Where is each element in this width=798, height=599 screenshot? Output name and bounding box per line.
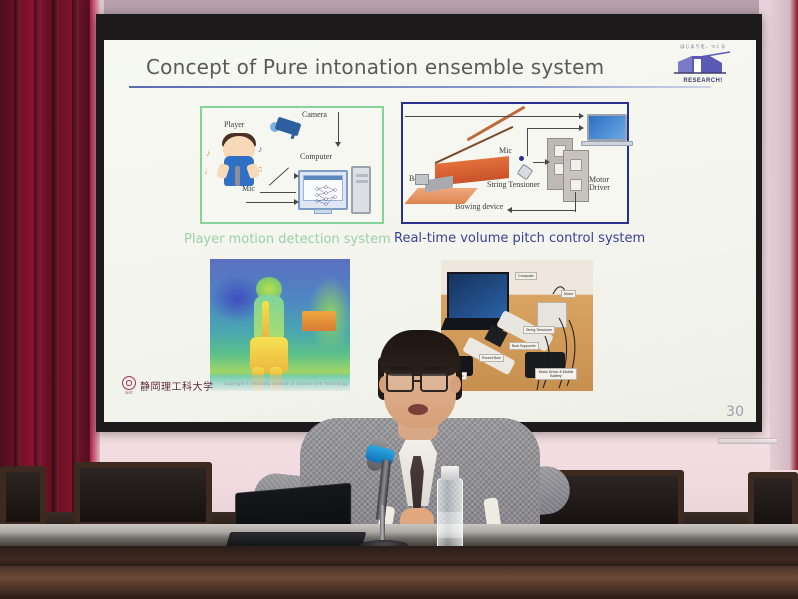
mic-icon (519, 156, 524, 161)
microphone-pole (380, 505, 385, 545)
diagram-label-motor-driver: Motor Driver (589, 176, 629, 193)
conference-table-edge (0, 546, 798, 568)
string-tensioner-icon (517, 164, 534, 181)
logo-tagline: はじまりを、つくる (664, 44, 742, 50)
maroon-curtain (0, 0, 100, 520)
realtime-pitch-control-diagram: Bow Mic String Tensioner Bowing device M… (401, 102, 629, 224)
university-name: 静岡理工科大学 (140, 378, 214, 393)
laptop-icon (587, 114, 627, 141)
rig-label-motor-driver-battery: Motor Driver & Mobile Battery (535, 368, 577, 380)
right-caption: Real-time volume pitch control system (394, 231, 645, 246)
rig-label-computer: Computer (515, 272, 537, 280)
player-motion-detection-diagram: Player Camera Computer Mic ♪ ♩ ♪ ♫ (200, 106, 384, 224)
diagram-label-camera: Camera (302, 110, 327, 119)
diagram-label-mic-right: Mic (499, 146, 512, 155)
research-building-icon (672, 51, 734, 78)
photo-scene: Concept of Pure intonation ensemble syst… (0, 0, 798, 599)
bottle-cap[interactable] (441, 466, 459, 480)
title-divider (129, 86, 711, 88)
presenter-mouth (408, 404, 428, 415)
slide-page-number: 30 (726, 404, 744, 420)
bottle-label (437, 512, 463, 538)
chair-left (0, 466, 46, 530)
left-caption: Player motion detection system (184, 232, 391, 247)
rig-label-motor: Motor (561, 290, 576, 298)
conference-table-front-panel (0, 566, 798, 599)
research-logo: はじまりを、つくる RESEARCH! (664, 44, 742, 84)
diagram-label-string-tensioner: String Tensioner (487, 180, 540, 189)
page-title: Concept of Pure intonation ensemble syst… (146, 55, 604, 79)
chair-center-left (74, 462, 212, 530)
wall-vent (718, 438, 778, 444)
computer-monitor-icon (298, 170, 348, 210)
diagram-label-player: Player (224, 120, 244, 129)
sist-seal-icon (122, 376, 136, 390)
eyeglasses (386, 372, 414, 392)
logo-wordmark: RESEARCH! (664, 78, 742, 84)
university-logo: SIST 静岡理工科大学 (122, 376, 214, 395)
sist-wordmark: SIST (122, 391, 136, 395)
right-wall-edge (770, 0, 798, 470)
computer-tower-icon (351, 166, 371, 214)
diagram-label-computer: Computer (300, 152, 332, 161)
